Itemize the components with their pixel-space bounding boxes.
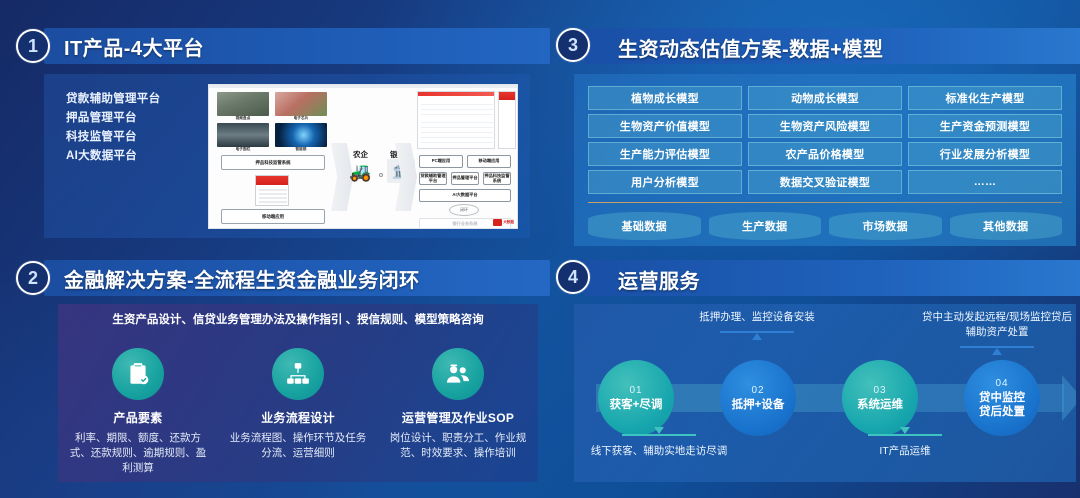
annotation-step-03: IT产品运维 xyxy=(830,444,980,459)
model-cell[interactable]: 动物成长模型 xyxy=(748,86,902,110)
data-source-cylinder[interactable]: 基础数据 xyxy=(588,212,701,240)
section-2-number: 2 xyxy=(16,261,50,295)
step-number: 03 xyxy=(873,385,886,396)
platform-item: AI大数据平台 xyxy=(66,147,196,166)
box-loan-assist-platform: 贷款辅助管理平台 xyxy=(419,172,447,185)
section-4-title: 运营服务 xyxy=(618,265,700,294)
desktop-table-mock xyxy=(417,91,495,149)
phone-row xyxy=(259,197,287,199)
model-cell[interactable]: 行业发展分析模型 xyxy=(908,142,1062,166)
annotation-step-04: 贷中主动发起远程/现场监控贷后辅助资产处置 xyxy=(922,310,1072,340)
link-dot-icon xyxy=(379,173,383,177)
thumbnail-caption: 智能锁 xyxy=(275,147,327,152)
annotation-text: 贷中主动发起远程/现场监控贷后辅助资产处置 xyxy=(922,311,1072,338)
table-row xyxy=(421,127,493,128)
section-financial-solution: 2 金融解决方案-全流程生资金融业务闭环 生资产品设计、信贷业务管理办法及操作指… xyxy=(0,252,540,492)
section-2-caption: 生资产品设计、信贷业务管理办法及操作指引 、授信规则、模型策略咨询 xyxy=(112,312,484,329)
box-collateral-supervision-system: 押品科技监管系统 xyxy=(221,155,325,170)
screenshot-top-rule xyxy=(209,85,517,88)
section-3-title: 生资动态估值方案-数据+模型 xyxy=(618,33,883,62)
user-group-icon xyxy=(432,348,484,400)
model-cell[interactable]: 数据交叉验证模型 xyxy=(748,170,902,194)
label-agri-enterprise: 农企 xyxy=(353,149,368,160)
table-row xyxy=(421,142,493,143)
annotation-connector xyxy=(622,434,696,436)
flow-step-03[interactable]: 03 系统运维 xyxy=(842,360,918,436)
model-cell[interactable]: 植物成长模型 xyxy=(588,86,742,110)
thumbnail-caption: 视频盘点 xyxy=(217,116,269,121)
product-architecture-screenshot: 视频盘点 电子芯片 电子围栏 智能锁 押品科技监管系统 xyxy=(208,84,518,229)
thumbnail-smart-lock: 智能锁 xyxy=(275,123,327,147)
table-row xyxy=(421,132,493,133)
model-cell[interactable]: 生物资产价值模型 xyxy=(588,114,742,138)
table-row xyxy=(421,122,493,123)
step-label: 抵押+设备 xyxy=(732,398,785,412)
phone-row xyxy=(259,189,287,191)
box-pc-application: PC端应用 xyxy=(419,155,463,168)
pillar-product-elements[interactable]: 产品要素 利率、期限、额度、还款方式、还款规则、逾期规则、盈利测算 xyxy=(58,348,218,476)
section-1-number: 1 xyxy=(16,29,50,63)
model-cell[interactable]: 农产品价格模型 xyxy=(748,142,902,166)
table-row xyxy=(421,104,493,105)
step-label: 获客+尽调 xyxy=(610,398,663,412)
thumbnail-caption: 电子围栏 xyxy=(217,147,269,152)
pillar-description: 业务流程图、操作环节及任务分流、运营细则 xyxy=(229,431,367,461)
thumbnail-electronic-fence: 电子围栏 xyxy=(217,123,269,147)
model-cell[interactable]: …… xyxy=(908,170,1062,194)
phone-header-bar xyxy=(256,176,288,185)
slide-canvas: 1 IT产品-4大平台 贷款辅助管理平台 押品管理平台 科技监管平台 AI大数据… xyxy=(0,0,1080,498)
table-row xyxy=(421,114,493,115)
section-3-header: 3 生资动态估值方案-数据+模型 xyxy=(556,28,1076,64)
step-number: 01 xyxy=(629,385,642,396)
step-label: 贷中监控 贷后处置 xyxy=(979,391,1025,419)
box-collateral-tech-supervision: 押品科技监管系统 xyxy=(483,172,511,185)
pillar-description: 利率、期限、额度、还款方式、还款规则、逾期规则、盈利测算 xyxy=(69,431,207,476)
vendor-logo-text: 大数据 xyxy=(503,221,514,225)
flow-step-04[interactable]: 04 贷中监控 贷后处置 xyxy=(964,360,1040,436)
box-ai-bigdata-platform: AI大数据平台 xyxy=(419,189,511,202)
section-3-divider xyxy=(588,202,1062,203)
data-source-cylinder[interactable]: 市场数据 xyxy=(829,212,942,240)
data-source-row: 基础数据 生产数据 市场数据 其他数据 xyxy=(588,212,1062,240)
section-2-panel: 生资产品设计、信贷业务管理办法及操作指引 、授信规则、模型策略咨询 产品要素 利… xyxy=(58,304,538,482)
table-row xyxy=(421,137,493,138)
box-mobile-application: 移动端应用 xyxy=(467,155,511,168)
phone-row xyxy=(259,201,287,203)
tractor-icon: 🚜 xyxy=(349,163,371,181)
annotation-step-01: 线下获客、辅助实地走访尽调 xyxy=(584,444,734,459)
org-chart-icon xyxy=(272,348,324,400)
clipboard-check-icon xyxy=(112,348,164,400)
section-1-header: 1 IT产品-4大平台 xyxy=(16,28,536,64)
annotation-step-02: 抵押办理、监控设备安装 xyxy=(682,310,832,325)
vendor-logo: 大数据 xyxy=(493,219,514,226)
phone-row xyxy=(259,193,287,195)
flow-step-02[interactable]: 02 抵押+设备 xyxy=(720,360,796,436)
annotation-connector xyxy=(960,346,1034,348)
vendor-logo-mark xyxy=(493,219,502,226)
section-4-header: 4 运营服务 xyxy=(556,260,1076,296)
annotation-connector xyxy=(868,434,942,436)
annotation-text: 抵押办理、监控设备安装 xyxy=(699,311,815,323)
section-3-number: 3 xyxy=(556,28,590,62)
mobile-device-mock-right xyxy=(498,91,516,149)
section-2-title: 金融解决方案-全流程生资金融业务闭环 xyxy=(64,264,420,293)
platform-list: 贷款辅助管理平台 押品管理平台 科技监管平台 AI大数据平台 xyxy=(66,90,196,166)
section-4-number: 4 xyxy=(556,260,590,294)
section-3-panel: 植物成长模型 动物成长模型 标准化生产模型 生物资产价值模型 生物资产风险模型 … xyxy=(574,74,1076,246)
model-cell[interactable]: 生产能力评估模型 xyxy=(588,142,742,166)
step-number: 04 xyxy=(995,378,1008,389)
table-row xyxy=(421,109,493,110)
pillar-process-design[interactable]: 业务流程设计 业务流程图、操作环节及任务分流、运营细则 xyxy=(218,348,378,476)
section-4-panel: 抵押办理、监控设备安装 贷中主动发起远程/现场监控贷后辅助资产处置 01 获客+… xyxy=(574,304,1076,482)
section-1-panel: 贷款辅助管理平台 押品管理平台 科技监管平台 AI大数据平台 视频盘点 电子芯片… xyxy=(44,74,530,238)
model-grid: 植物成长模型 动物成长模型 标准化生产模型 生物资产价值模型 生物资产风险模型 … xyxy=(588,86,1062,194)
pillar-title: 业务流程设计 xyxy=(261,409,335,426)
section-operation-services: 4 运营服务 抵押办理、监控设备安装 贷中主动发起远程/现场监控贷后辅助资产处置… xyxy=(540,252,1080,492)
pillar-title: 运营管理及作业SOP xyxy=(402,409,514,426)
section-2-header: 2 金融解决方案-全流程生资金融业务闭环 xyxy=(16,260,536,296)
model-cell[interactable]: 标准化生产模型 xyxy=(908,86,1062,110)
pillar-title: 产品要素 xyxy=(113,409,162,426)
box-collateral-mgmt-platform: 押品管理平台 xyxy=(451,172,479,185)
platform-item: 押品管理平台 xyxy=(66,109,196,128)
table-header-bar xyxy=(418,92,494,96)
thumbnail-caption: 电子芯片 xyxy=(275,116,327,121)
model-cell[interactable]: 生物资产风险模型 xyxy=(748,114,902,138)
mobile-device-mock xyxy=(255,175,289,206)
thumbnail-video-inventory: 视频盘点 xyxy=(217,92,269,116)
flow-step-01[interactable]: 01 获客+尽调 xyxy=(598,360,674,436)
data-source-cylinder[interactable]: 生产数据 xyxy=(709,212,822,240)
model-cell[interactable]: 用户分析模型 xyxy=(588,170,742,194)
box-mobile-app-left: 移动端应用 xyxy=(221,209,325,224)
model-cell[interactable]: 生产资金预测模型 xyxy=(908,114,1062,138)
data-source-cylinder[interactable]: 其他数据 xyxy=(950,212,1063,240)
step-label: 系统运维 xyxy=(857,398,903,412)
platform-item: 贷款辅助管理平台 xyxy=(66,90,196,109)
platform-item: 科技监管平台 xyxy=(66,128,196,147)
pillar-operations-sop[interactable]: 运营管理及作业SOP 岗位设计、职责分工、作业规范、时效要求、操作培训 xyxy=(378,348,538,476)
phone-header-bar xyxy=(499,92,515,100)
section-it-products: 1 IT产品-4大平台 贷款辅助管理平台 押品管理平台 科技监管平台 AI大数据… xyxy=(0,18,540,248)
pillar-row: 产品要素 利率、期限、额度、还款方式、还款规则、逾期规则、盈利测算 业务流程 xyxy=(58,348,538,476)
closed-loop-icon: 闭环 xyxy=(449,204,479,216)
annotation-connector xyxy=(720,331,794,333)
section-dynamic-valuation: 3 生资动态估值方案-数据+模型 植物成长模型 动物成长模型 标准化生产模型 生… xyxy=(540,18,1080,248)
pillar-description: 岗位设计、职责分工、作业规范、时效要求、操作培训 xyxy=(389,431,527,461)
step-number: 02 xyxy=(751,385,764,396)
thumbnail-electronic-chip: 电子芯片 xyxy=(275,92,327,116)
annotation-text: IT产品运维 xyxy=(879,445,930,457)
annotation-text: 线下获客、辅助实地走访尽调 xyxy=(591,445,728,457)
section-1-title: IT产品-4大平台 xyxy=(64,32,204,61)
